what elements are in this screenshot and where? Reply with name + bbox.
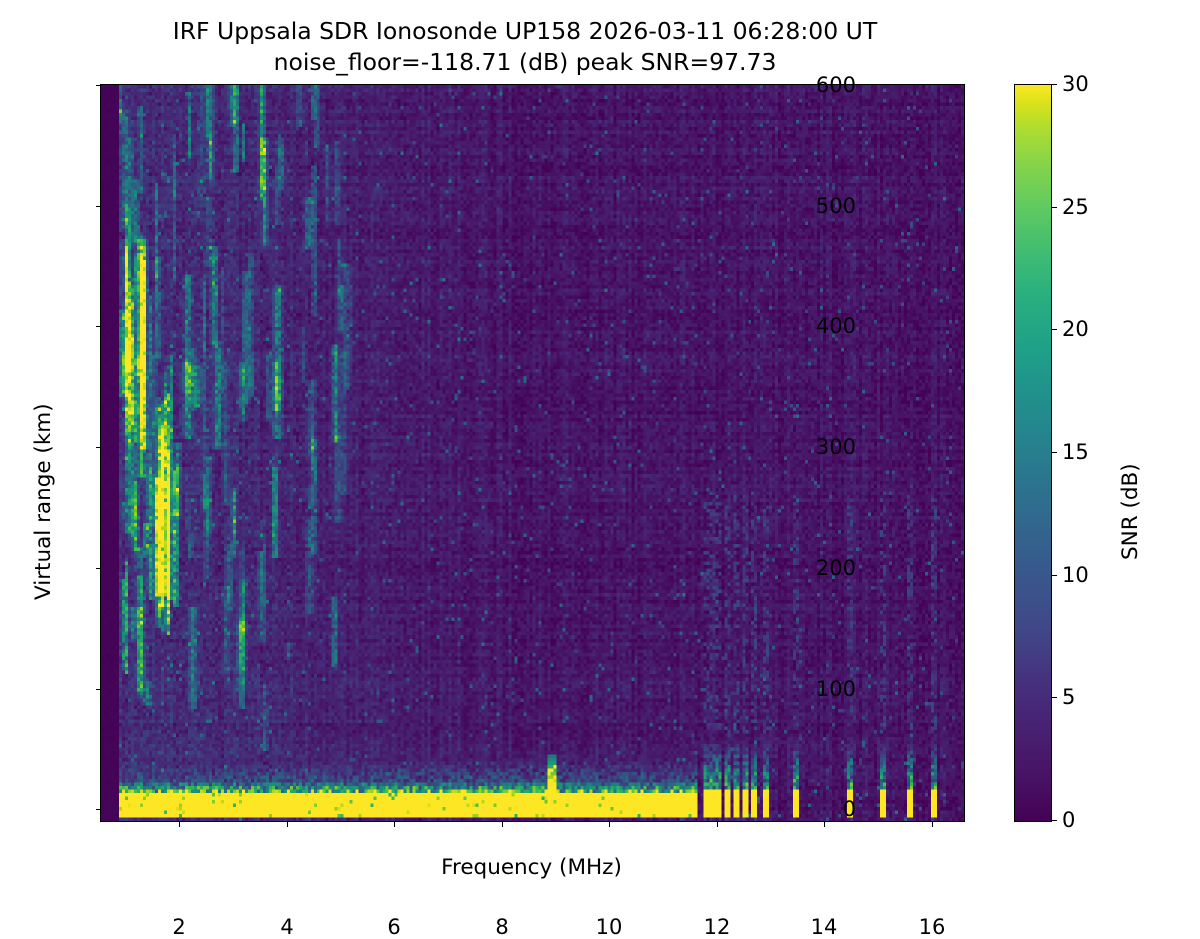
x-tick-label-8: 8: [462, 917, 542, 938]
colorbar-tick-label-20: 20: [1062, 319, 1122, 340]
x-tick-mark: [824, 821, 825, 827]
x-tick-mark: [502, 821, 503, 827]
colorbar-gradient: [1014, 84, 1052, 822]
x-tick-mark: [394, 821, 395, 827]
x-tick-mark: [609, 821, 610, 827]
x-tick-mark: [179, 821, 180, 827]
y-tick-mark: [96, 326, 102, 327]
title-line-1: IRF Uppsala SDR Ionosonde UP158 2026-03-…: [0, 16, 1050, 47]
x-axis-label: Frequency (MHz): [100, 855, 963, 880]
colorbar-tick-label-0: 0: [1062, 810, 1122, 831]
ionogram-figure: IRF Uppsala SDR Ionosonde UP158 2026-03-…: [0, 0, 1200, 900]
y-tick-label-300: 300: [786, 437, 856, 458]
colorbar-tick-mark: [1051, 84, 1057, 85]
colorbar-tick-mark: [1051, 452, 1057, 453]
colorbar-tick-label-5: 5: [1062, 687, 1122, 708]
colorbar-tick-mark: [1051, 820, 1057, 821]
x-tick-label-4: 4: [247, 917, 327, 938]
x-tick-label-10: 10: [569, 917, 649, 938]
y-tick-mark: [96, 206, 102, 207]
y-tick-mark: [96, 85, 102, 86]
y-tick-label-200: 200: [786, 558, 856, 579]
colorbar-tick-mark: [1051, 207, 1057, 208]
figure-title: IRF Uppsala SDR Ionosonde UP158 2026-03-…: [0, 16, 1050, 77]
y-tick-mark: [96, 447, 102, 448]
colorbar-label: SNR (dB): [1118, 463, 1143, 560]
x-tick-mark: [717, 821, 718, 827]
x-tick-mark: [287, 821, 288, 827]
y-axis-label: Virtual range (km): [31, 403, 56, 600]
x-tick-label-12: 12: [677, 917, 757, 938]
colorbar-tick-label-25: 25: [1062, 197, 1122, 218]
x-tick-mark: [932, 821, 933, 827]
title-line-2: noise_floor=-118.71 (dB) peak SNR=97.73: [0, 47, 1050, 78]
y-tick-label-500: 500: [786, 196, 856, 217]
colorbar-tick-mark: [1051, 575, 1057, 576]
y-tick-mark: [96, 809, 102, 810]
y-tick-label-600: 600: [786, 75, 856, 96]
colorbar-tick-label-30: 30: [1062, 74, 1122, 95]
colorbar-tick-label-10: 10: [1062, 565, 1122, 586]
colorbar-tick-mark: [1051, 329, 1057, 330]
y-tick-mark: [96, 568, 102, 569]
y-tick-label-0: 0: [786, 799, 856, 820]
x-tick-label-16: 16: [892, 917, 972, 938]
y-tick-label-100: 100: [786, 679, 856, 700]
colorbar: 302520151050: [1014, 84, 1050, 820]
x-tick-label-6: 6: [354, 917, 434, 938]
plot-axes: 6005004003002001000246810121416: [100, 84, 965, 822]
x-tick-label-14: 14: [784, 917, 864, 938]
x-tick-label-2: 2: [139, 917, 219, 938]
colorbar-tick-label-15: 15: [1062, 442, 1122, 463]
colorbar-tick-mark: [1051, 697, 1057, 698]
y-tick-label-400: 400: [786, 316, 856, 337]
y-tick-mark: [96, 689, 102, 690]
